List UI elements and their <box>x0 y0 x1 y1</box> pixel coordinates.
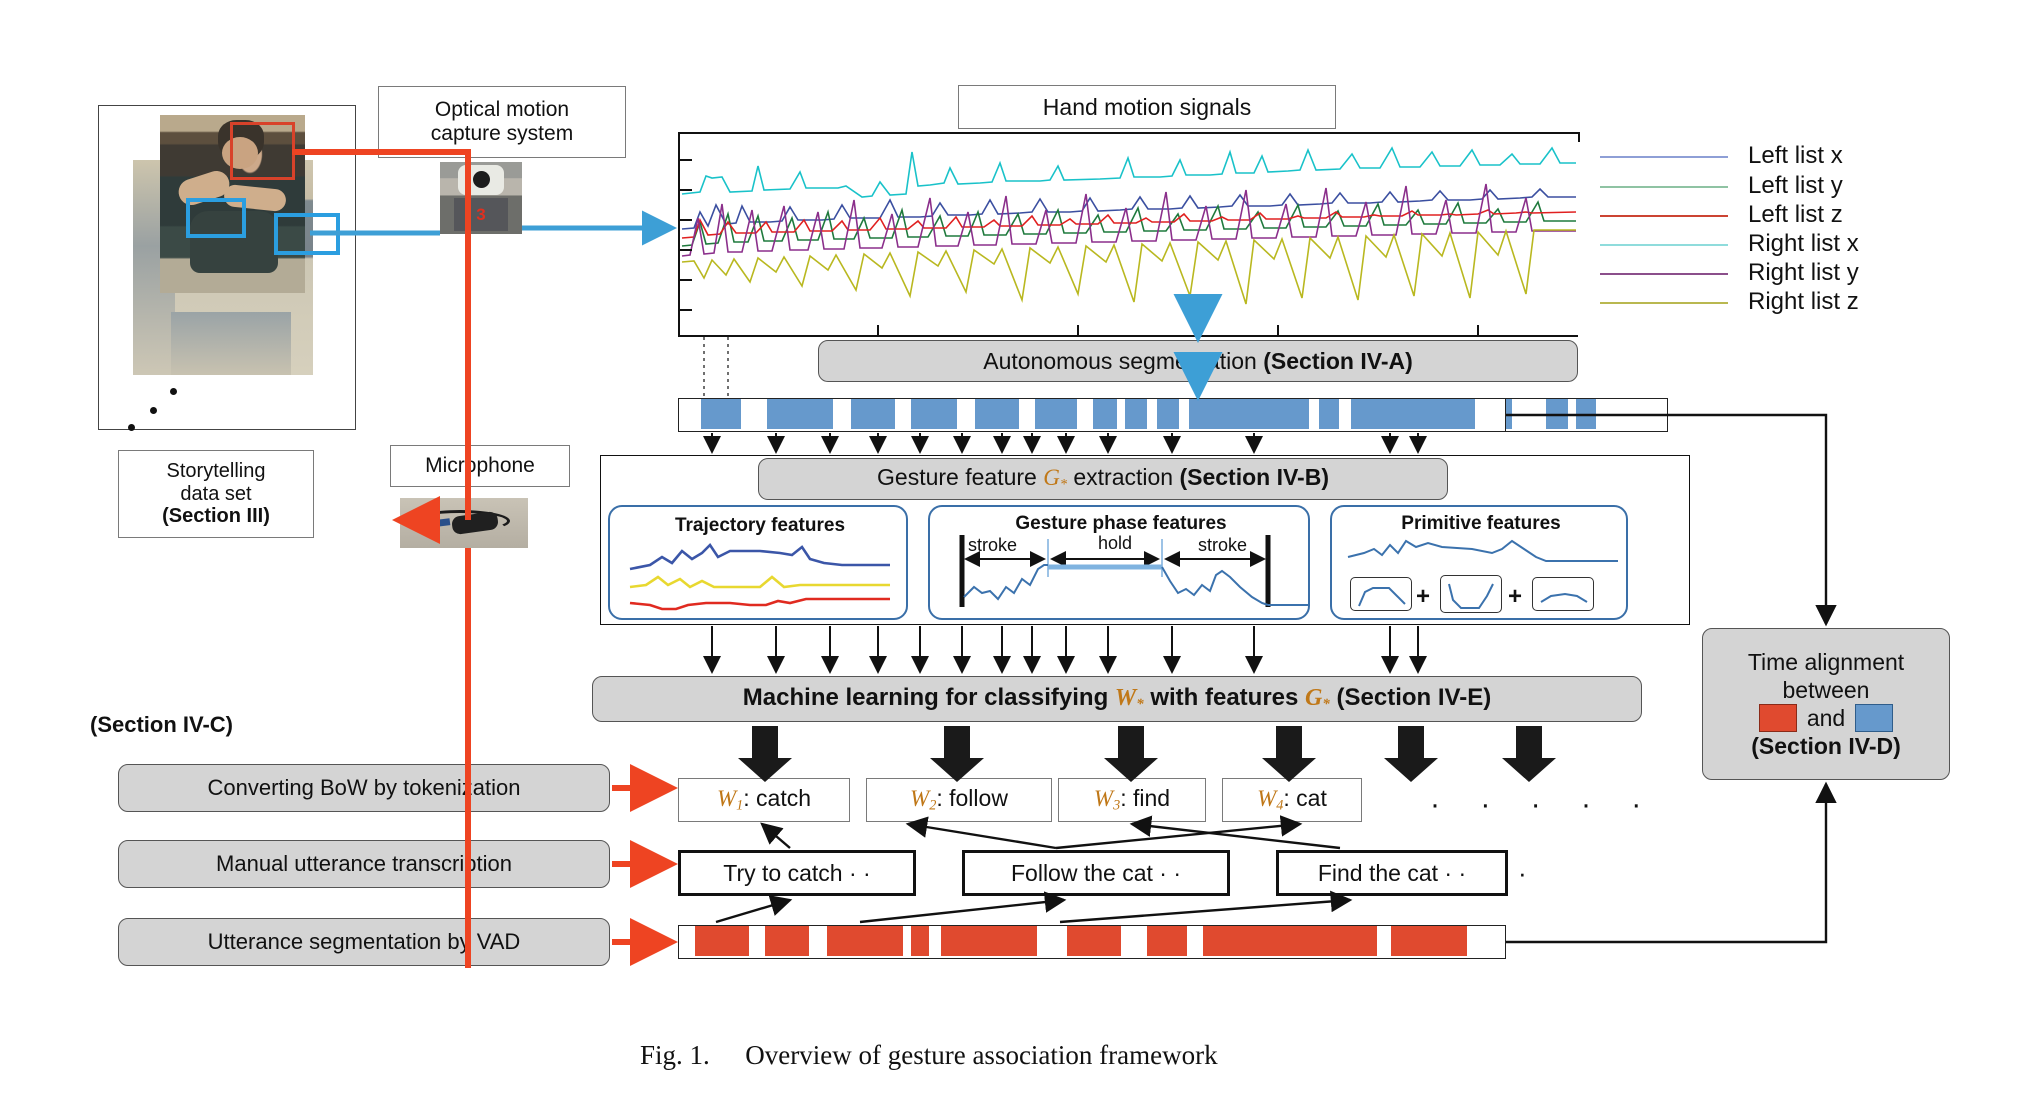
time-alignment-line-1: Time alignment <box>1748 648 1904 676</box>
time-alignment-line-4: (Section IV-D) <box>1751 732 1901 760</box>
optical-label-line-2: capture system <box>431 122 573 146</box>
word-box-4-text: W4: cat <box>1257 785 1327 815</box>
hand-motion-signals-plot <box>678 132 1578 337</box>
figure-caption-label: Fig. 1. <box>640 1040 710 1070</box>
utterance-box-1-text: Try to catch · · <box>723 860 870 887</box>
word-boxes-ellipsis-text: · · · · · <box>1430 788 1657 821</box>
dataset-line-1: Storytelling <box>167 460 266 482</box>
word-boxes-ellipsis: · · · · · <box>1430 788 1657 822</box>
word-box-2[interactable]: W2: follow <box>866 778 1052 822</box>
motion-capture-camera-photo: 3 <box>440 162 522 234</box>
blue-swatch <box>1855 704 1893 732</box>
signals-legend: Left list x Left list y Left list z Righ… <box>1600 140 2000 330</box>
word-box-4[interactable]: W4: cat <box>1222 778 1362 822</box>
optical-label-line-1: Optical motion <box>435 98 569 122</box>
red-swatch <box>1759 704 1797 732</box>
gesture-segmentation-bar <box>678 398 1506 432</box>
legend-label-2: Left list z <box>1748 201 1843 229</box>
autonomous-segmentation-box[interactable]: Autonomous segmentation (Section IV-A) <box>818 340 1578 382</box>
microphone-label: Microphone <box>390 445 570 487</box>
vad-segmentation-text: Utterance segmentation by VAD <box>208 929 521 955</box>
speech-segmentation-bar <box>678 925 1506 959</box>
gesture-feature-extraction-box[interactable]: Gesture feature G* extraction (Section I… <box>758 458 1448 500</box>
primitive-plus-1: + <box>1416 583 1430 611</box>
hand-motion-signals-title: Hand motion signals <box>958 85 1336 129</box>
time-alignment-line-2: between <box>1783 676 1870 704</box>
phase-label-stroke-1: stroke <box>968 535 1017 556</box>
time-alignment-and: and <box>1807 704 1845 732</box>
dataset-line-2: data set <box>180 483 251 505</box>
gesture-phase-features-title: Gesture phase features <box>930 513 1312 535</box>
primitive-plus-2: + <box>1508 583 1522 611</box>
legend-label-4: Right list y <box>1748 259 1859 287</box>
legend-label-3: Right list x <box>1748 230 1859 258</box>
dataset-line-3: (Section III) <box>162 505 270 527</box>
hand-motion-signals-title-text: Hand motion signals <box>1043 94 1251 121</box>
word-box-2-text: W2: follow <box>910 785 1008 815</box>
dataset-caption-box: Storytelling data set (Section III) <box>118 450 314 538</box>
manual-transcription-text: Manual utterance transcription <box>216 851 512 877</box>
vad-segmentation-box[interactable]: Utterance segmentation by VAD <box>118 918 610 966</box>
head-bounding-box <box>230 122 295 180</box>
right-hand-bounding-box <box>274 213 340 255</box>
autonomous-segmentation-text: Autonomous segmentation (Section IV-A) <box>983 348 1413 375</box>
utterance-box-2[interactable]: Follow the cat · · <box>962 850 1230 896</box>
word-box-3[interactable]: W3: find <box>1058 778 1206 822</box>
manual-transcription-box[interactable]: Manual utterance transcription <box>118 840 610 888</box>
microphone-label-text: Microphone <box>425 454 535 478</box>
time-alignment-box[interactable]: Time alignment between and (Section IV-D… <box>1702 628 1950 780</box>
machine-learning-box[interactable]: Machine learning for classifying W* with… <box>592 676 1642 722</box>
legend-label-1: Left list y <box>1748 172 1843 200</box>
microphone-photo <box>400 498 528 548</box>
phase-label-hold: hold <box>1098 533 1132 554</box>
utterance-box-1[interactable]: Try to catch · · <box>678 850 916 896</box>
phase-label-stroke-2: stroke <box>1198 535 1247 556</box>
signals-axis-top-right <box>1578 132 1580 142</box>
section-iv-c-label: (Section IV-C) <box>90 712 233 738</box>
gesture-segmentation-bar-tail <box>1506 398 1668 432</box>
gesture-feature-extraction-text: Gesture feature G* extraction (Section I… <box>877 464 1329 494</box>
trajectory-features-title: Trajectory features <box>610 515 910 537</box>
utterance-box-3[interactable]: Find the cat · · <box>1276 850 1508 896</box>
utterance-trailing-dot-text: · <box>1518 858 1527 888</box>
figure-caption: Fig. 1. Overview of gesture association … <box>640 1040 1218 1071</box>
dataset-ellipsis <box>110 368 230 428</box>
camera-number: 3 <box>473 204 489 226</box>
time-alignment-swatch-row: and <box>1759 704 1893 732</box>
left-hand-bounding-box <box>186 198 246 238</box>
section-iv-c-text: (Section IV-C) <box>90 712 233 737</box>
utterance-box-3-text: Find the cat · · <box>1318 860 1466 887</box>
machine-learning-text: Machine learning for classifying W* with… <box>743 684 1491 714</box>
optical-motion-capture-label: Optical motion capture system <box>378 86 626 158</box>
word-box-3-text: W3: find <box>1094 785 1170 815</box>
converting-bow-box[interactable]: Converting BoW by tokenization <box>118 764 610 812</box>
legend-label-5: Right list z <box>1748 288 1859 316</box>
primitive-features-box: Primitive features + + <box>1330 505 1628 620</box>
legend-label-0: Left list x <box>1748 142 1843 170</box>
word-box-1[interactable]: W1: catch <box>678 778 850 822</box>
converting-bow-text: Converting BoW by tokenization <box>207 775 520 801</box>
trajectory-features-box: Trajectory features <box>608 505 908 620</box>
utterance-box-2-text: Follow the cat · · <box>1011 860 1181 887</box>
figure-caption-text: Overview of gesture association framewor… <box>745 1040 1217 1070</box>
word-box-1-text: W1: catch <box>717 785 811 815</box>
gesture-phase-features-box: Gesture phase features stroke hold strok… <box>928 505 1310 620</box>
utterance-trailing-dot: · <box>1518 858 1527 889</box>
primitive-features-title: Primitive features <box>1332 513 1630 535</box>
